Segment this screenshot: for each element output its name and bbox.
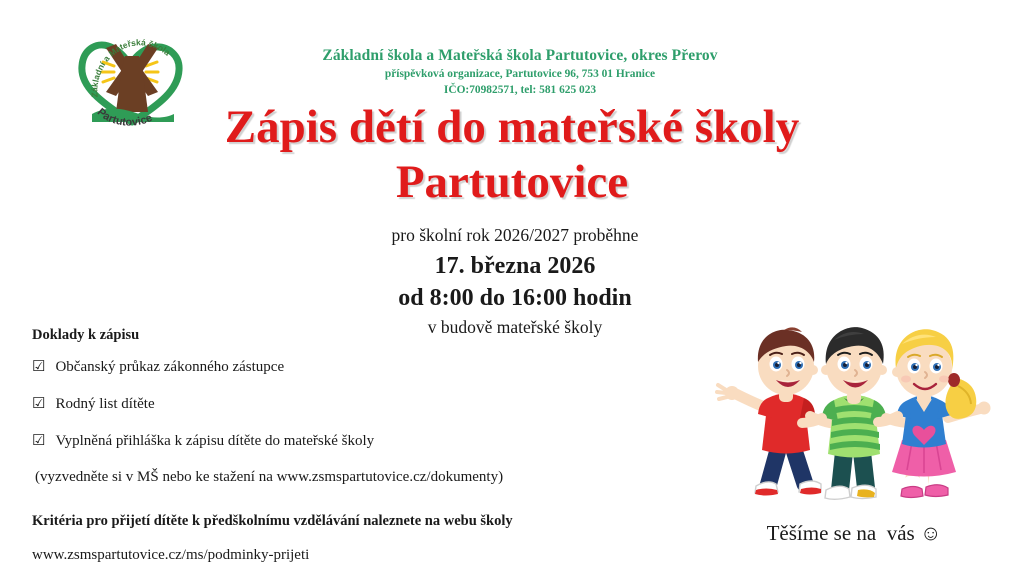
enrollment-hours: od 8:00 do 16:00 hodin <box>265 283 765 314</box>
criteria-section: Kritéria pro přijetí dítěte k předškolní… <box>32 512 672 565</box>
list-item: ☑ Občanský průkaz zákonného zástupce <box>32 358 652 376</box>
list-item: ☑ Vyplněná přihláška k zápisu dítěte do … <box>32 432 652 450</box>
list-item-label: Rodný list dítěte <box>55 395 154 413</box>
list-item-label: Vyplněná přihláška k zápisu dítěte do ma… <box>55 432 374 450</box>
list-item-label: Občanský průkaz zákonného zástupce <box>55 358 284 376</box>
documents-section: Doklady k zápisu ☑ Občanský průkaz zákon… <box>32 327 652 486</box>
criteria-heading: Kritéria pro přijetí dítěte k předškolní… <box>32 512 672 531</box>
enrollment-date: 17. března 2026 <box>265 251 765 282</box>
poster-canvas: Základní a Mateřská škola Partutovice Zá… <box>0 0 1024 576</box>
child-boy-brown-hair <box>717 327 840 495</box>
page-title-line2: Partutovice <box>62 155 962 210</box>
school-name: Základní škola a Mateřská škola Partutov… <box>220 46 820 65</box>
documents-heading: Doklady k zápisu <box>32 327 652 344</box>
logo-windmill-cap <box>122 56 142 68</box>
criteria-link: www.zsmspartutovice.cz/ms/podminky-prije… <box>32 546 672 566</box>
enrollment-date-block: pro školní rok 2026/2027 proběhne 17. bř… <box>265 224 765 339</box>
checkbox-checked-icon: ☑ <box>32 434 45 449</box>
three-children-illustration <box>706 300 1002 518</box>
documents-note: (vyzvedněte si v MŠ nebo ke stažení na w… <box>32 469 652 486</box>
illustration-caption: Těšíme se na vás ☺ <box>706 521 1002 546</box>
school-ico-tel: IČO:70982571, tel: 581 625 023 <box>220 83 820 98</box>
page-title-line1: Zápis dětí do mateřské školy <box>225 101 800 153</box>
page-title: Zápis dětí do mateřské školy Partutovice <box>62 100 962 209</box>
checkbox-checked-icon: ☑ <box>32 360 45 375</box>
school-header: Základní škola a Mateřská škola Partutov… <box>220 46 820 98</box>
checkbox-checked-icon: ☑ <box>32 397 45 412</box>
school-year-intro: pro školní rok 2026/2027 proběhne <box>265 224 765 247</box>
school-organization: příspěvková organizace, Partutovice 96, … <box>220 67 820 82</box>
child-girl-blonde <box>878 329 991 497</box>
documents-list: ☑ Občanský průkaz zákonného zástupce ☑ R… <box>32 358 652 450</box>
list-item: ☑ Rodný list dítěte <box>32 395 652 413</box>
